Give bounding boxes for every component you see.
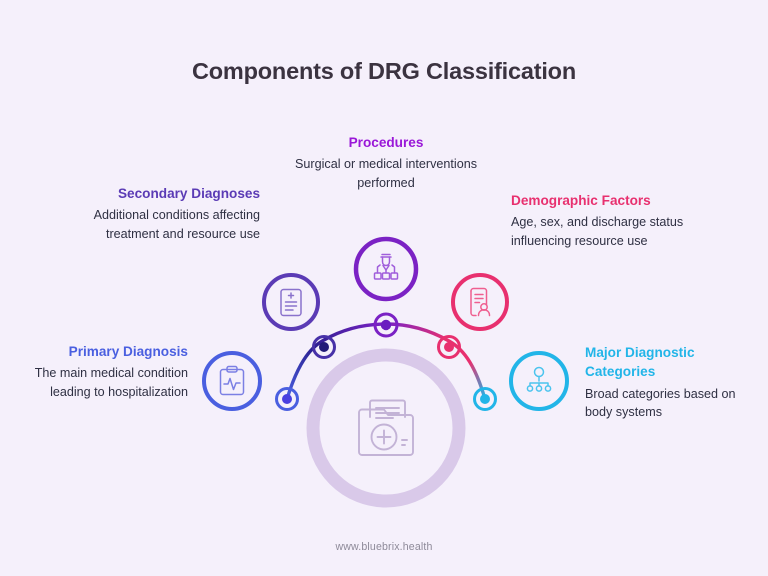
component-description-primary-diagnosis: The main medical condition leading to ho… (22, 364, 188, 401)
arc-node-primary-diagnosis (277, 389, 298, 410)
component-heading-major-diagnostic-categories: Major Diagnostic Categories (585, 343, 745, 382)
component-description-secondary-diagnoses: Additional conditions affecting treatmen… (48, 206, 260, 243)
clipboard-pulse-icon (221, 367, 244, 395)
infographic-canvas: Components of DRG Classification (0, 0, 768, 576)
footer-url: www.bluebrix.health (0, 541, 768, 553)
diagram-artwork (0, 0, 768, 576)
component-description-demographic-factors: Age, sex, and discharge status influenci… (511, 213, 711, 250)
hierarchy-chart-icon (527, 368, 550, 392)
icon-circle-procedures[interactable] (356, 239, 416, 299)
medical-folder-plus-icon (359, 401, 413, 456)
component-heading-primary-diagnosis: Primary Diagnosis (22, 342, 188, 361)
patient-record-icon (471, 289, 490, 316)
component-heading-secondary-diagnoses: Secondary Diagnoses (48, 184, 260, 203)
component-block-secondary-diagnoses: Secondary Diagnoses Additional condition… (48, 184, 260, 243)
component-block-demographic-factors: Demographic Factors Age, sex, and discha… (511, 191, 711, 250)
component-block-primary-diagnosis: Primary Diagnosis The main medical condi… (22, 342, 188, 401)
icon-circle-secondary-diagnoses[interactable] (264, 275, 318, 329)
icon-circle-primary-diagnosis[interactable] (204, 353, 260, 409)
arc-node-major-diagnostic-categories (475, 389, 496, 410)
component-description-major-diagnostic-categories: Broad categories based on body systems (585, 385, 745, 422)
icon-circle-major-diagnostic-categories[interactable] (511, 353, 567, 409)
center-ring (313, 355, 459, 501)
icon-circle-demographic-factors[interactable] (453, 275, 507, 329)
component-block-major-diagnostic-categories: Major Diagnostic Categories Broad catego… (585, 343, 745, 422)
component-block-procedures: Procedures Surgical or medical intervent… (288, 133, 484, 192)
surgeon-figure-icon (375, 255, 398, 280)
component-heading-demographic-factors: Demographic Factors (511, 191, 711, 210)
component-heading-procedures: Procedures (288, 133, 484, 152)
document-plus-icon (281, 290, 301, 316)
component-description-procedures: Surgical or medical interventions perfor… (288, 155, 484, 192)
